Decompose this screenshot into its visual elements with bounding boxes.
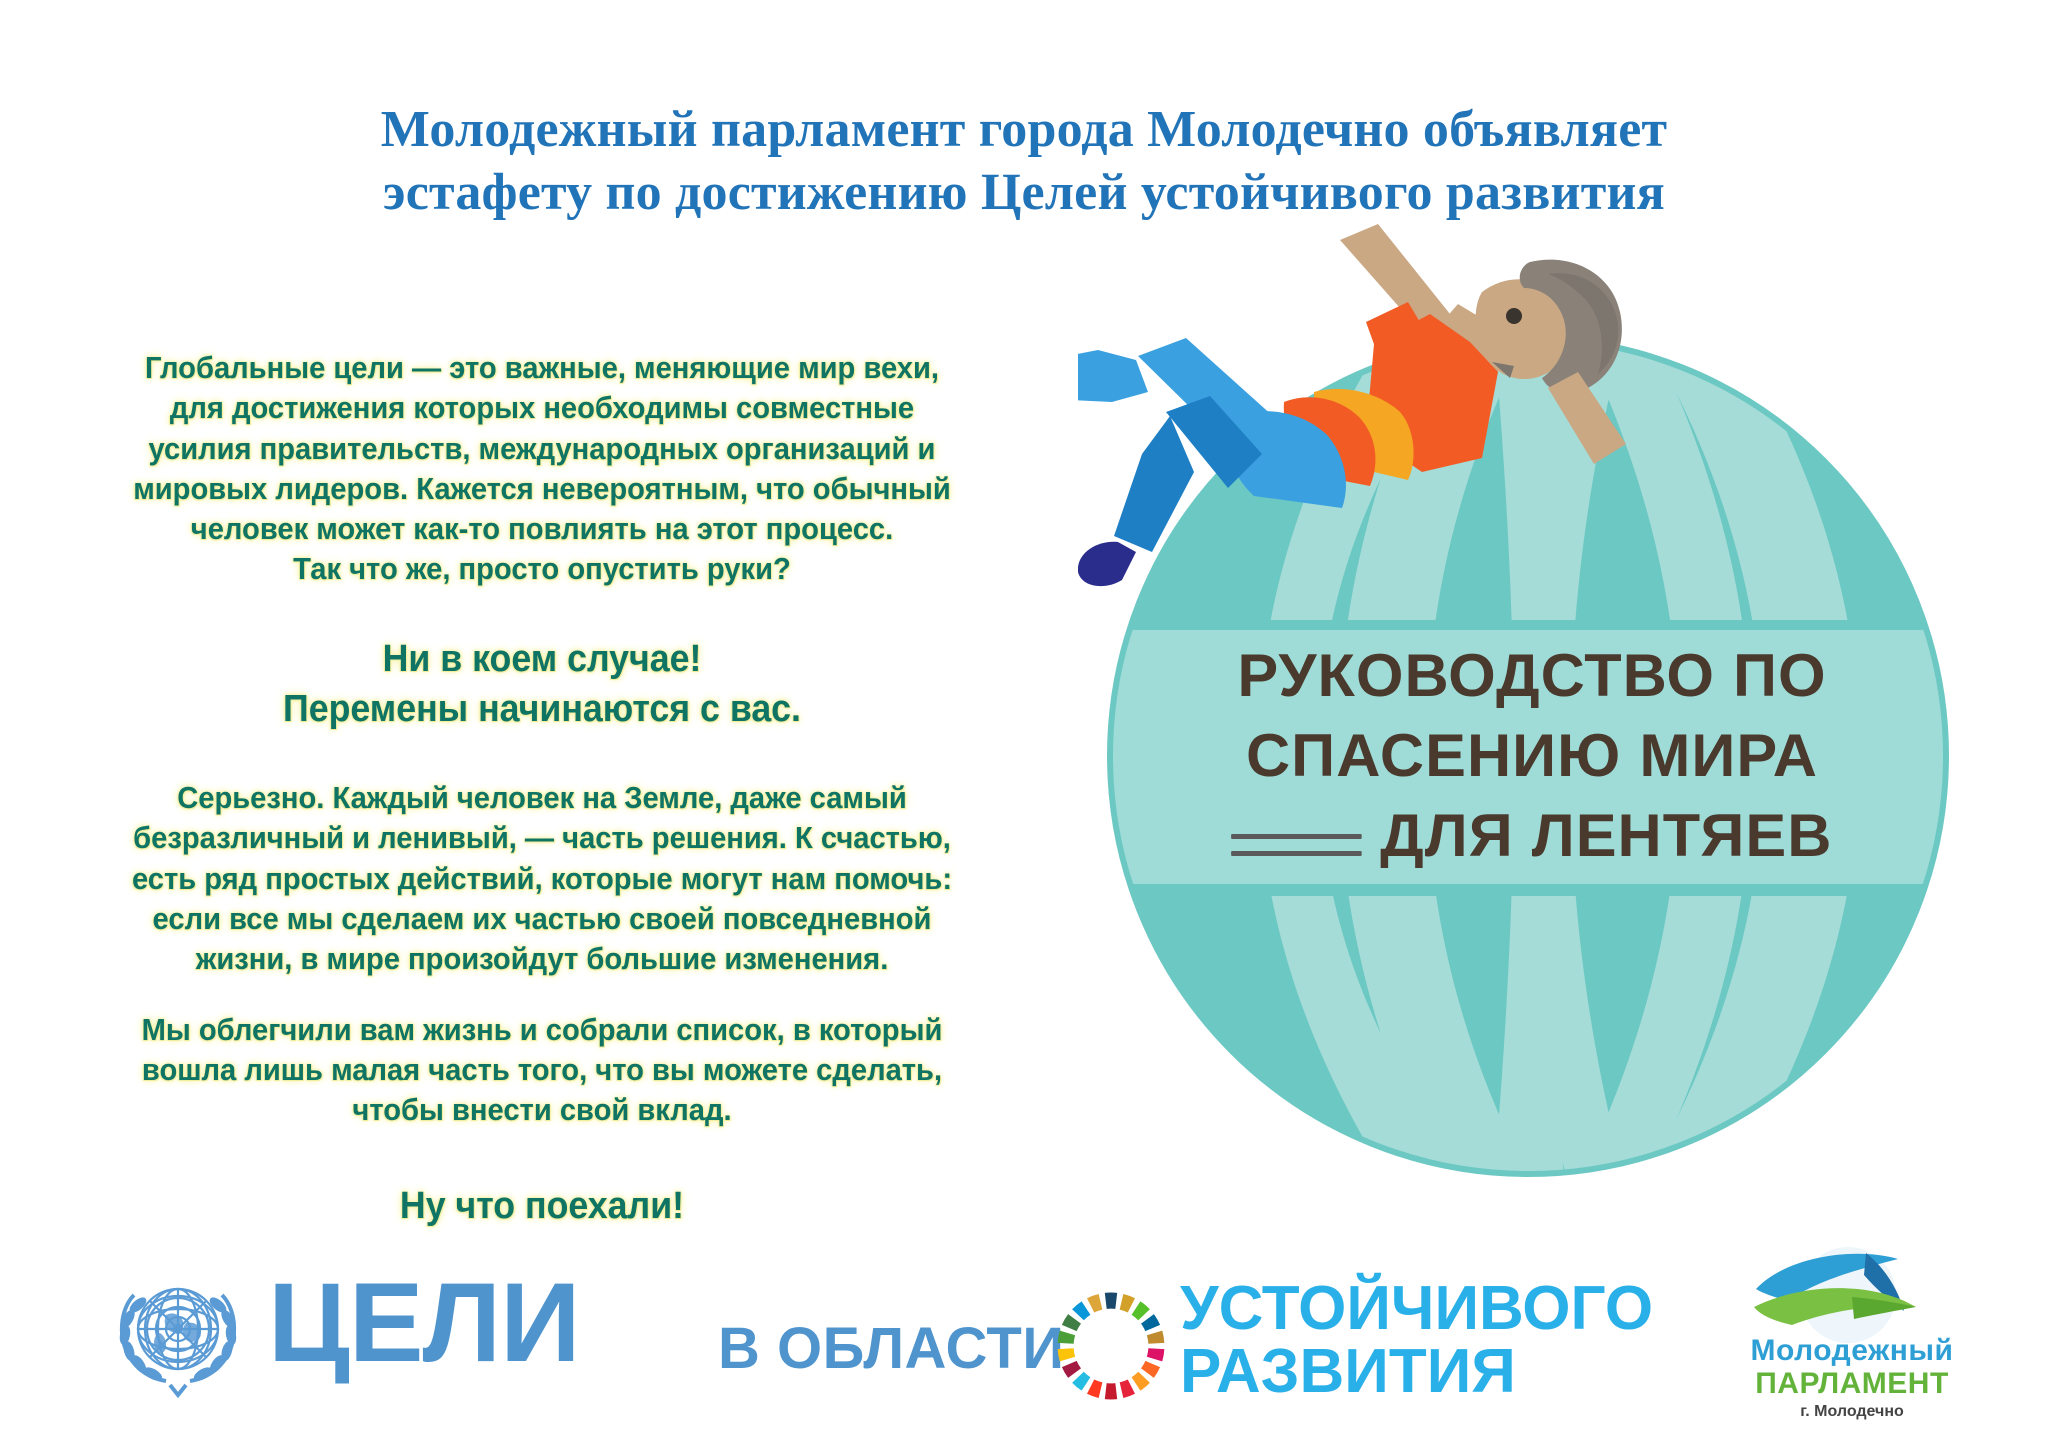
spacer-4: [72, 1130, 1012, 1182]
p3-line-1: Серьезно. Каждый человек на Земле, даже …: [72, 778, 1012, 818]
swoosh-icon: [1748, 1245, 1958, 1345]
p4-line-2: вошла лишь малая часть того, что вы може…: [72, 1050, 1012, 1090]
paragraph-3: Серьезно. Каждый человек на Земле, даже …: [72, 778, 1012, 979]
p1-line-2: для достижения которых необходимы совмес…: [72, 388, 1012, 428]
sdg-word-2: РАЗВИТИЯ: [1180, 1340, 1653, 1403]
mp-line-3: г. Молодечно: [1718, 1402, 1986, 1423]
p3-line-3: есть ряд простых действий, которые могут…: [72, 859, 1012, 899]
un-emblem-icon: [108, 1263, 248, 1403]
paragraph-4: Мы облегчили вам жизнь и собрали список,…: [72, 1010, 1012, 1131]
globe-line-1: РУКОВОДСТВО ПО: [1189, 636, 1874, 716]
sdg-words: УСТОЙЧИВОГО РАЗВИТИЯ: [1180, 1277, 1653, 1403]
sdg-word-1: УСТОЙЧИВОГО: [1180, 1277, 1653, 1340]
globe-line-3-row: ДЛЯ ЛЕНТЯЕВ: [1189, 796, 1874, 876]
p3-line-5: жизни, в мире произойдут большие изменен…: [72, 939, 1012, 979]
mp-line-1: Молодежный: [1718, 1335, 1986, 1367]
poster-root: Молодежный парламент города Молодечно об…: [0, 0, 2048, 1448]
un-goals-word: ЦЕЛИ: [268, 1267, 580, 1379]
p4-line-1: Мы облегчили вам жизнь и собрали список,…: [72, 1010, 1012, 1050]
paragraph-2-emphasis: Ни в коем случае! Перемены начинаются с …: [72, 634, 1012, 734]
in-area-words: В ОБЛАСТИ: [718, 1320, 1065, 1378]
p1-line-4: мировых лидеров. Кажется невероятным, чт…: [72, 469, 1012, 509]
p4-line-3: чтобы внести свой вклад.: [72, 1090, 1012, 1130]
spacer-2: [72, 734, 1012, 778]
youth-parliament-logo: Молодежный ПАРЛАМЕНТ г. Молодечно: [1718, 1243, 1986, 1443]
spacer-3: [72, 980, 1012, 1010]
p1-line-6: Так что же, просто опустить руки?: [72, 549, 1012, 589]
spacer-1: [72, 590, 1012, 634]
cta-text: Ну что поехали!: [72, 1182, 1012, 1231]
globe-illustration: РУКОВОДСТВО ПО СПАСЕНИЮ МИРА ДЛЯ ЛЕНТЯЕВ: [1078, 196, 1978, 1206]
footer-logo-bar: ЦЕЛИ В ОБЛАСТИ: [0, 1245, 2048, 1445]
p1-line-1: Глобальные цели — это важные, меняющие м…: [72, 348, 1012, 388]
p1-line-3: усилия правительств, международных орган…: [72, 429, 1012, 469]
p2-line-2: Перемены начинаются с вас.: [72, 684, 1012, 734]
youth-parliament-wordmark: Молодежный ПАРЛАМЕНТ г. Молодечно: [1718, 1335, 1986, 1422]
double-rule-icon: [1232, 834, 1363, 856]
p3-line-2: безразличный и ленивый, — часть решения.…: [72, 818, 1012, 858]
p3-line-4: если все мы сделаем их частью своей повс…: [72, 899, 1012, 939]
body-copy: Глобальные цели — это важные, меняющие м…: [72, 348, 1012, 1232]
mp-line-2: ПАРЛАМЕНТ: [1718, 1367, 1986, 1400]
sdg-color-wheel-icon: [1052, 1287, 1170, 1405]
paragraph-1: Глобальные цели — это важные, меняющие м…: [72, 348, 1012, 590]
call-to-action: Ну что поехали!: [72, 1182, 1012, 1231]
globe-line-3: ДЛЯ ЛЕНТЯЕВ: [1380, 802, 1832, 869]
p1-line-5: человек может как-то повлиять на этот пр…: [72, 509, 1012, 549]
p2-line-1: Ни в коем случае!: [72, 634, 1012, 684]
title-line-1: Молодежный парламент города Молодечно об…: [0, 98, 2048, 161]
globe-band-text: РУКОВОДСТВО ПО СПАСЕНИЮ МИРА ДЛЯ ЛЕНТЯЕВ: [1189, 636, 1874, 875]
globe-line-2: СПАСЕНИЮ МИРА: [1189, 716, 1874, 796]
